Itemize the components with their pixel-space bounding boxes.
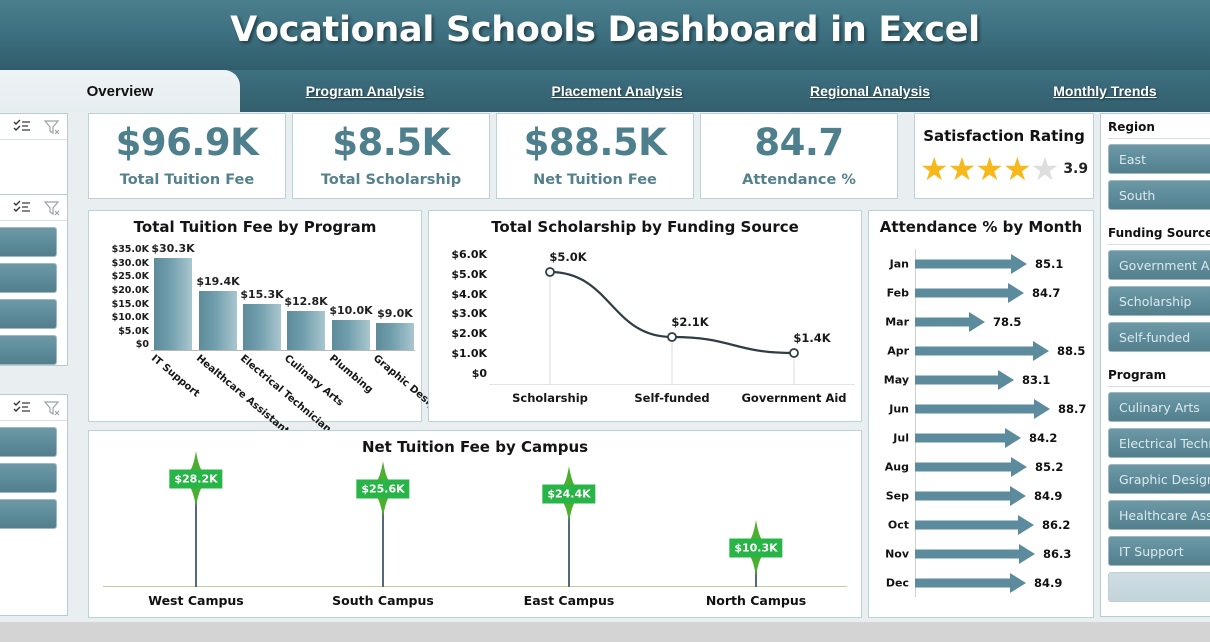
slicer-icon-group <box>13 118 61 136</box>
attendance-arrow-bar <box>915 311 985 333</box>
slicer-item[interactable]: Sep <box>0 299 57 329</box>
slicer-item[interactable]: Culinary Arts <box>1108 392 1210 422</box>
bar-column: $12.8K <box>287 311 325 350</box>
campus-category-label: South Campus <box>332 593 434 608</box>
bar-column: $15.3K <box>243 304 281 350</box>
kpi-card-total-tuition-fee: $96.9K Total Tuition Fee <box>88 113 286 199</box>
slicer-left-3[interactable] <box>0 394 68 616</box>
star-filled-icon: ★ <box>975 153 1004 185</box>
slicer-title: Funding Source <box>1108 226 1210 240</box>
slicer-item[interactable]: Government Aid <box>1108 250 1210 280</box>
slicer-panel-right: RegionEastSouthFunding SourceGovernment … <box>1100 113 1210 617</box>
kpi-value: 84.7 <box>754 124 843 161</box>
attendance-value-label: 86.3 <box>1043 547 1071 561</box>
line-category-label: Scholarship <box>512 391 588 405</box>
lollipop-marker: $10.3K <box>734 520 778 576</box>
month-label: Aug <box>875 460 909 473</box>
attendance-row: Sep84.9 <box>869 481 1093 510</box>
month-label: Jul <box>875 431 909 444</box>
month-label: Dec <box>875 576 909 589</box>
campus-category-label: North Campus <box>706 593 806 608</box>
attendance-arrow-bar <box>915 456 1027 478</box>
attendance-arrow-bar <box>915 485 1026 507</box>
y-tick-label: $35.0K <box>112 245 149 255</box>
kpi-label: Total Scholarship <box>321 172 461 188</box>
bar-value-label: $12.8K <box>284 295 327 308</box>
chart-attendance-pct-by-month: Attendance % by Month Jan85.1Feb84.7Mar7… <box>868 210 1094 618</box>
kpi-card-total-scholarship: $8.5K Total Scholarship <box>292 113 490 199</box>
chart-total-tuition-fee-by-program: Total Tuition Fee by Program $35.0K$30.0… <box>88 210 422 422</box>
star-empty-icon: ★ <box>1031 153 1060 185</box>
attendance-arrow-bar <box>915 543 1035 565</box>
tab-regional-analysis[interactable]: Regional Analysis <box>745 70 995 112</box>
slicer-item[interactable]: Dec <box>0 335 57 365</box>
y-tick-label: $0 <box>472 368 487 379</box>
attendance-value-label: 86.2 <box>1042 518 1070 532</box>
slicer-header <box>0 395 67 421</box>
slicer-item[interactable]: Self-funded <box>1108 322 1210 352</box>
slicer-icon-group <box>13 199 61 217</box>
attendance-value-label: 83.1 <box>1022 373 1050 387</box>
slicer-item[interactable] <box>0 463 57 493</box>
attendance-arrow-bar <box>915 398 1050 420</box>
attendance-row: Jul84.2 <box>869 423 1093 452</box>
attendance-arrow-bar <box>915 340 1049 362</box>
tab-overview[interactable]: Overview <box>0 70 240 112</box>
multi-select-icon[interactable] <box>13 199 31 217</box>
attendance-value-label: 88.5 <box>1057 344 1085 358</box>
slicer-item[interactable] <box>0 499 57 529</box>
dashboard-header: Vocational Schools Dashboard in Excel <box>0 0 1210 70</box>
kpi-value: $88.5K <box>524 124 667 161</box>
bar-chart-plot-area: $30.3K$19.4K$15.3K$12.8K$10.0K$9.0K <box>151 245 415 351</box>
campus-category-label: East Campus <box>524 593 615 608</box>
lollipop-marker: $24.4K <box>547 466 591 522</box>
kpi-value: $96.9K <box>116 124 259 161</box>
slicer-header <box>0 114 67 140</box>
y-tick-label: $5.0K <box>118 327 149 337</box>
chart-title: Total Scholarship by Funding Source <box>429 218 861 236</box>
month-label: Sep <box>875 489 909 502</box>
attendance-value-label: 78.5 <box>993 315 1021 329</box>
tab-bar: OverviewProgram AnalysisPlacement Analys… <box>0 70 1210 112</box>
slicer-left-2-quarter-months[interactable]: MarJunSepDec <box>0 194 68 366</box>
star-filled-icon: ★ <box>920 153 949 185</box>
clear-filter-icon[interactable] <box>43 399 61 417</box>
attendance-row: Jan85.1 <box>869 249 1093 278</box>
attendance-row: Apr88.5 <box>869 336 1093 365</box>
bar-rect <box>376 323 414 350</box>
chart-title: Attendance % by Month <box>869 218 1093 236</box>
attendance-row: Mar78.5 <box>869 307 1093 336</box>
satisfaction-title: Satisfaction Rating <box>923 127 1085 145</box>
kpi-value: $8.5K <box>332 124 449 161</box>
line-chart-category-labels: ScholarshipSelf-fundedGovernment Aid <box>489 391 853 409</box>
campus-category-labels: West CampusSouth CampusEast CampusNorth … <box>103 593 847 613</box>
slicer-title: Region <box>1108 120 1155 134</box>
attendance-arrow-bar <box>915 572 1026 594</box>
bar-column: $9.0K <box>376 323 414 350</box>
campus-plot-area: $28.2K$25.6K$24.4K$10.3K <box>103 465 847 587</box>
dashboard-canvas: $96.9K Total Tuition Fee $8.5K Total Sch… <box>0 112 1210 622</box>
bar-value-label: $9.0K <box>377 307 413 320</box>
attendance-row: Oct86.2 <box>869 510 1093 539</box>
slicer-divider <box>1108 244 1210 245</box>
attendance-arrow-bar <box>915 282 1024 304</box>
rating-value: 3.9 <box>1063 161 1088 177</box>
slicer-item[interactable] <box>1108 572 1210 602</box>
lollipop-marker: $28.2K <box>174 451 218 507</box>
slicer-item[interactable]: South <box>1108 180 1210 210</box>
bar-column: $30.3K <box>154 258 192 350</box>
bar-chart-y-axis: $35.0K$30.0K$25.0K$20.0K$15.0K$10.0K$5.0… <box>93 245 149 350</box>
slicer-item[interactable]: Electrical Technician <box>1108 428 1210 458</box>
dashboard-root: Vocational Schools Dashboard in Excel Ov… <box>0 0 1210 642</box>
line-chart-y-axis: $6.0K$5.0K$4.0K$3.0K$2.0K$1.0K$0 <box>435 249 487 379</box>
month-label: Mar <box>875 315 909 328</box>
attendance-arrow-bar <box>915 369 1014 391</box>
slicer-item[interactable]: East <box>1108 144 1210 174</box>
y-tick-label: $15.0K <box>112 300 149 310</box>
clear-filter-icon[interactable] <box>43 118 61 136</box>
bar-rect <box>287 311 325 350</box>
bar-column: $10.0K <box>332 320 370 350</box>
slicer-divider <box>1108 138 1210 139</box>
y-tick-label: $1.0K <box>451 348 487 359</box>
line-value-label: $2.1K <box>671 315 708 329</box>
y-tick-label: $0 <box>136 340 149 350</box>
y-tick-label: $5.0K <box>451 269 487 280</box>
attendance-value-label: 84.7 <box>1032 286 1060 300</box>
campus-value-label: $25.6K <box>356 480 409 499</box>
month-label: Apr <box>875 344 909 357</box>
attendance-value-label: 88.7 <box>1058 402 1086 416</box>
multi-select-icon[interactable] <box>13 399 31 417</box>
attendance-arrow-bar <box>915 514 1034 536</box>
kpi-label: Total Tuition Fee <box>120 172 254 188</box>
star-rating: ★★★★★3.9 <box>920 153 1088 185</box>
attendance-row: Feb84.7 <box>869 278 1093 307</box>
y-tick-label: $30.0K <box>112 259 149 269</box>
lollipop-marker: $25.6K <box>361 461 405 517</box>
clear-filter-icon[interactable] <box>43 199 61 217</box>
chart-title: Total Tuition Fee by Program <box>89 218 421 236</box>
page-title: Vocational Schools Dashboard in Excel <box>0 10 1210 50</box>
campus-value-label: $10.3K <box>729 539 782 558</box>
campus-baseline <box>103 586 847 587</box>
y-tick-label: $3.0K <box>451 308 487 319</box>
kpi-card-satisfaction-rating: Satisfaction Rating ★★★★★3.9 <box>914 113 1094 199</box>
campus-value-label: $24.4K <box>542 485 595 504</box>
attendance-value-label: 85.2 <box>1035 460 1063 474</box>
bar-rect <box>243 304 281 350</box>
slicer-header <box>0 195 67 221</box>
slicer-divider <box>1108 386 1210 387</box>
campus-category-label: West Campus <box>148 593 244 608</box>
bar-value-label: $19.4K <box>196 275 239 288</box>
kpi-card-net-tuition-fee: $88.5K Net Tuition Fee <box>496 113 694 199</box>
slicer-item[interactable] <box>0 427 57 457</box>
month-label: Feb <box>875 286 909 299</box>
bar-value-label: $10.0K <box>329 304 372 317</box>
line-category-label: Self-funded <box>634 391 709 405</box>
kpi-card-attendance-pct: 84.7 Attendance % <box>700 113 898 199</box>
line-category-label: Government Aid <box>741 391 846 405</box>
attendance-value-label: 84.9 <box>1034 576 1062 590</box>
attendance-row: Nov86.3 <box>869 539 1093 568</box>
slicer-item[interactable]: Healthcare Assistant <box>1108 500 1210 530</box>
bar-value-label: $15.3K <box>240 288 283 301</box>
slicer-left-1[interactable] <box>0 113 68 201</box>
attendance-rows: Jan85.1Feb84.7Mar78.5Apr88.5May83.1Jun88… <box>869 249 1093 611</box>
tab-placement-analysis[interactable]: Placement Analysis <box>492 70 742 112</box>
attendance-value-label: 84.2 <box>1029 431 1057 445</box>
month-label: Jun <box>875 402 909 415</box>
attendance-row: Jun88.7 <box>869 394 1093 423</box>
y-tick-label: $25.0K <box>112 272 149 282</box>
bar-chart-category-labels: IT SupportHealthcare AssistantElectrical… <box>151 353 421 423</box>
slicer-item[interactable]: Scholarship <box>1108 286 1210 316</box>
bar-rect <box>154 258 192 350</box>
y-tick-label: $20.0K <box>112 286 149 296</box>
attendance-arrow-bar <box>915 427 1021 449</box>
slicer-item[interactable]: Mar <box>0 227 57 257</box>
bar-column: $19.4K <box>199 291 237 350</box>
attendance-value-label: 85.1 <box>1035 257 1063 271</box>
tab-monthly-trends[interactable]: Monthly Trends <box>1000 70 1210 112</box>
bar-value-label: $30.3K <box>151 242 194 255</box>
slicer-item[interactable]: Graphic Design <box>1108 464 1210 494</box>
chart-total-scholarship-by-funding-source: Total Scholarship by Funding Source $6.0… <box>428 210 862 422</box>
slicer-item[interactable]: IT Support <box>1108 536 1210 566</box>
tab-program-analysis[interactable]: Program Analysis <box>240 70 490 112</box>
month-label: Nov <box>875 547 909 560</box>
month-label: May <box>875 373 909 386</box>
y-tick-label: $6.0K <box>451 249 487 260</box>
multi-select-icon[interactable] <box>13 118 31 136</box>
line-value-label: $1.4K <box>793 331 830 345</box>
bar-rect <box>199 291 237 350</box>
line-value-label: $5.0K <box>549 250 586 264</box>
month-label: Jan <box>875 257 909 270</box>
slicer-icon-group <box>13 399 61 417</box>
attendance-value-label: 84.9 <box>1034 489 1062 503</box>
attendance-row: Dec84.9 <box>869 568 1093 597</box>
bar-category-label: Plumbing <box>327 353 375 396</box>
footer-strip <box>0 622 1210 642</box>
month-label: Oct <box>875 518 909 531</box>
kpi-label: Attendance % <box>742 172 856 188</box>
slicer-title: Program <box>1108 368 1166 382</box>
attendance-arrow-bar <box>915 253 1027 275</box>
y-tick-label: $4.0K <box>451 289 487 300</box>
star-filled-icon: ★ <box>1003 153 1032 185</box>
bar-rect <box>332 320 370 350</box>
y-tick-label: $2.0K <box>451 328 487 339</box>
campus-value-label: $28.2K <box>169 470 222 489</box>
chart-net-tuition-fee-by-campus: Net Tuition Fee by Campus $28.2K$25.6K$2… <box>88 430 862 618</box>
line-chart-plot-area: $5.0K$2.1K$1.4K <box>489 249 853 385</box>
kpi-label: Net Tuition Fee <box>533 172 657 188</box>
slicer-item[interactable]: Jun <box>0 263 57 293</box>
attendance-row: Aug85.2 <box>869 452 1093 481</box>
attendance-row: May83.1 <box>869 365 1093 394</box>
star-filled-icon: ★ <box>948 153 977 185</box>
y-tick-label: $10.0K <box>112 313 149 323</box>
